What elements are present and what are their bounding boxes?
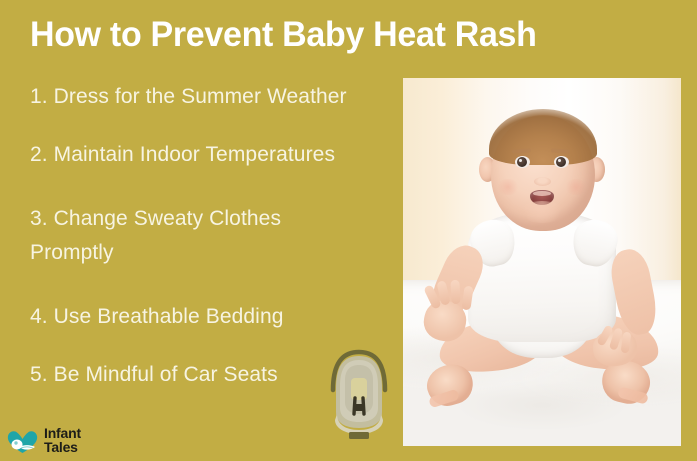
- list-item: 3. Change Sweaty Clothes Promptly: [30, 202, 360, 270]
- logo-text: Infant Tales: [44, 427, 81, 455]
- baby-hair: [489, 109, 597, 165]
- car-seat-icon: [326, 344, 392, 440]
- baby-nose: [534, 177, 551, 186]
- baby-right-cheek: [564, 179, 588, 195]
- list-item: 2. Maintain Indoor Temperatures: [30, 144, 410, 166]
- list-item: 1. Dress for the Summer Weather: [30, 86, 410, 108]
- list-item: 4. Use Breathable Bedding: [30, 306, 410, 328]
- baby-right-eyebrow: [551, 148, 570, 153]
- baby-finger: [451, 280, 461, 304]
- logo-line-2: Tales: [44, 441, 81, 455]
- baby-photo: [403, 78, 681, 446]
- page-title: How to Prevent Baby Heat Rash: [30, 13, 661, 57]
- infographic-canvas: How to Prevent Baby Heat Rash 1. Dress f…: [0, 0, 697, 461]
- baby-left-eyebrow: [512, 148, 531, 153]
- infant-tales-logo-icon: [6, 428, 39, 455]
- logo[interactable]: Infant Tales: [6, 427, 81, 455]
- baby-figure: [403, 78, 681, 446]
